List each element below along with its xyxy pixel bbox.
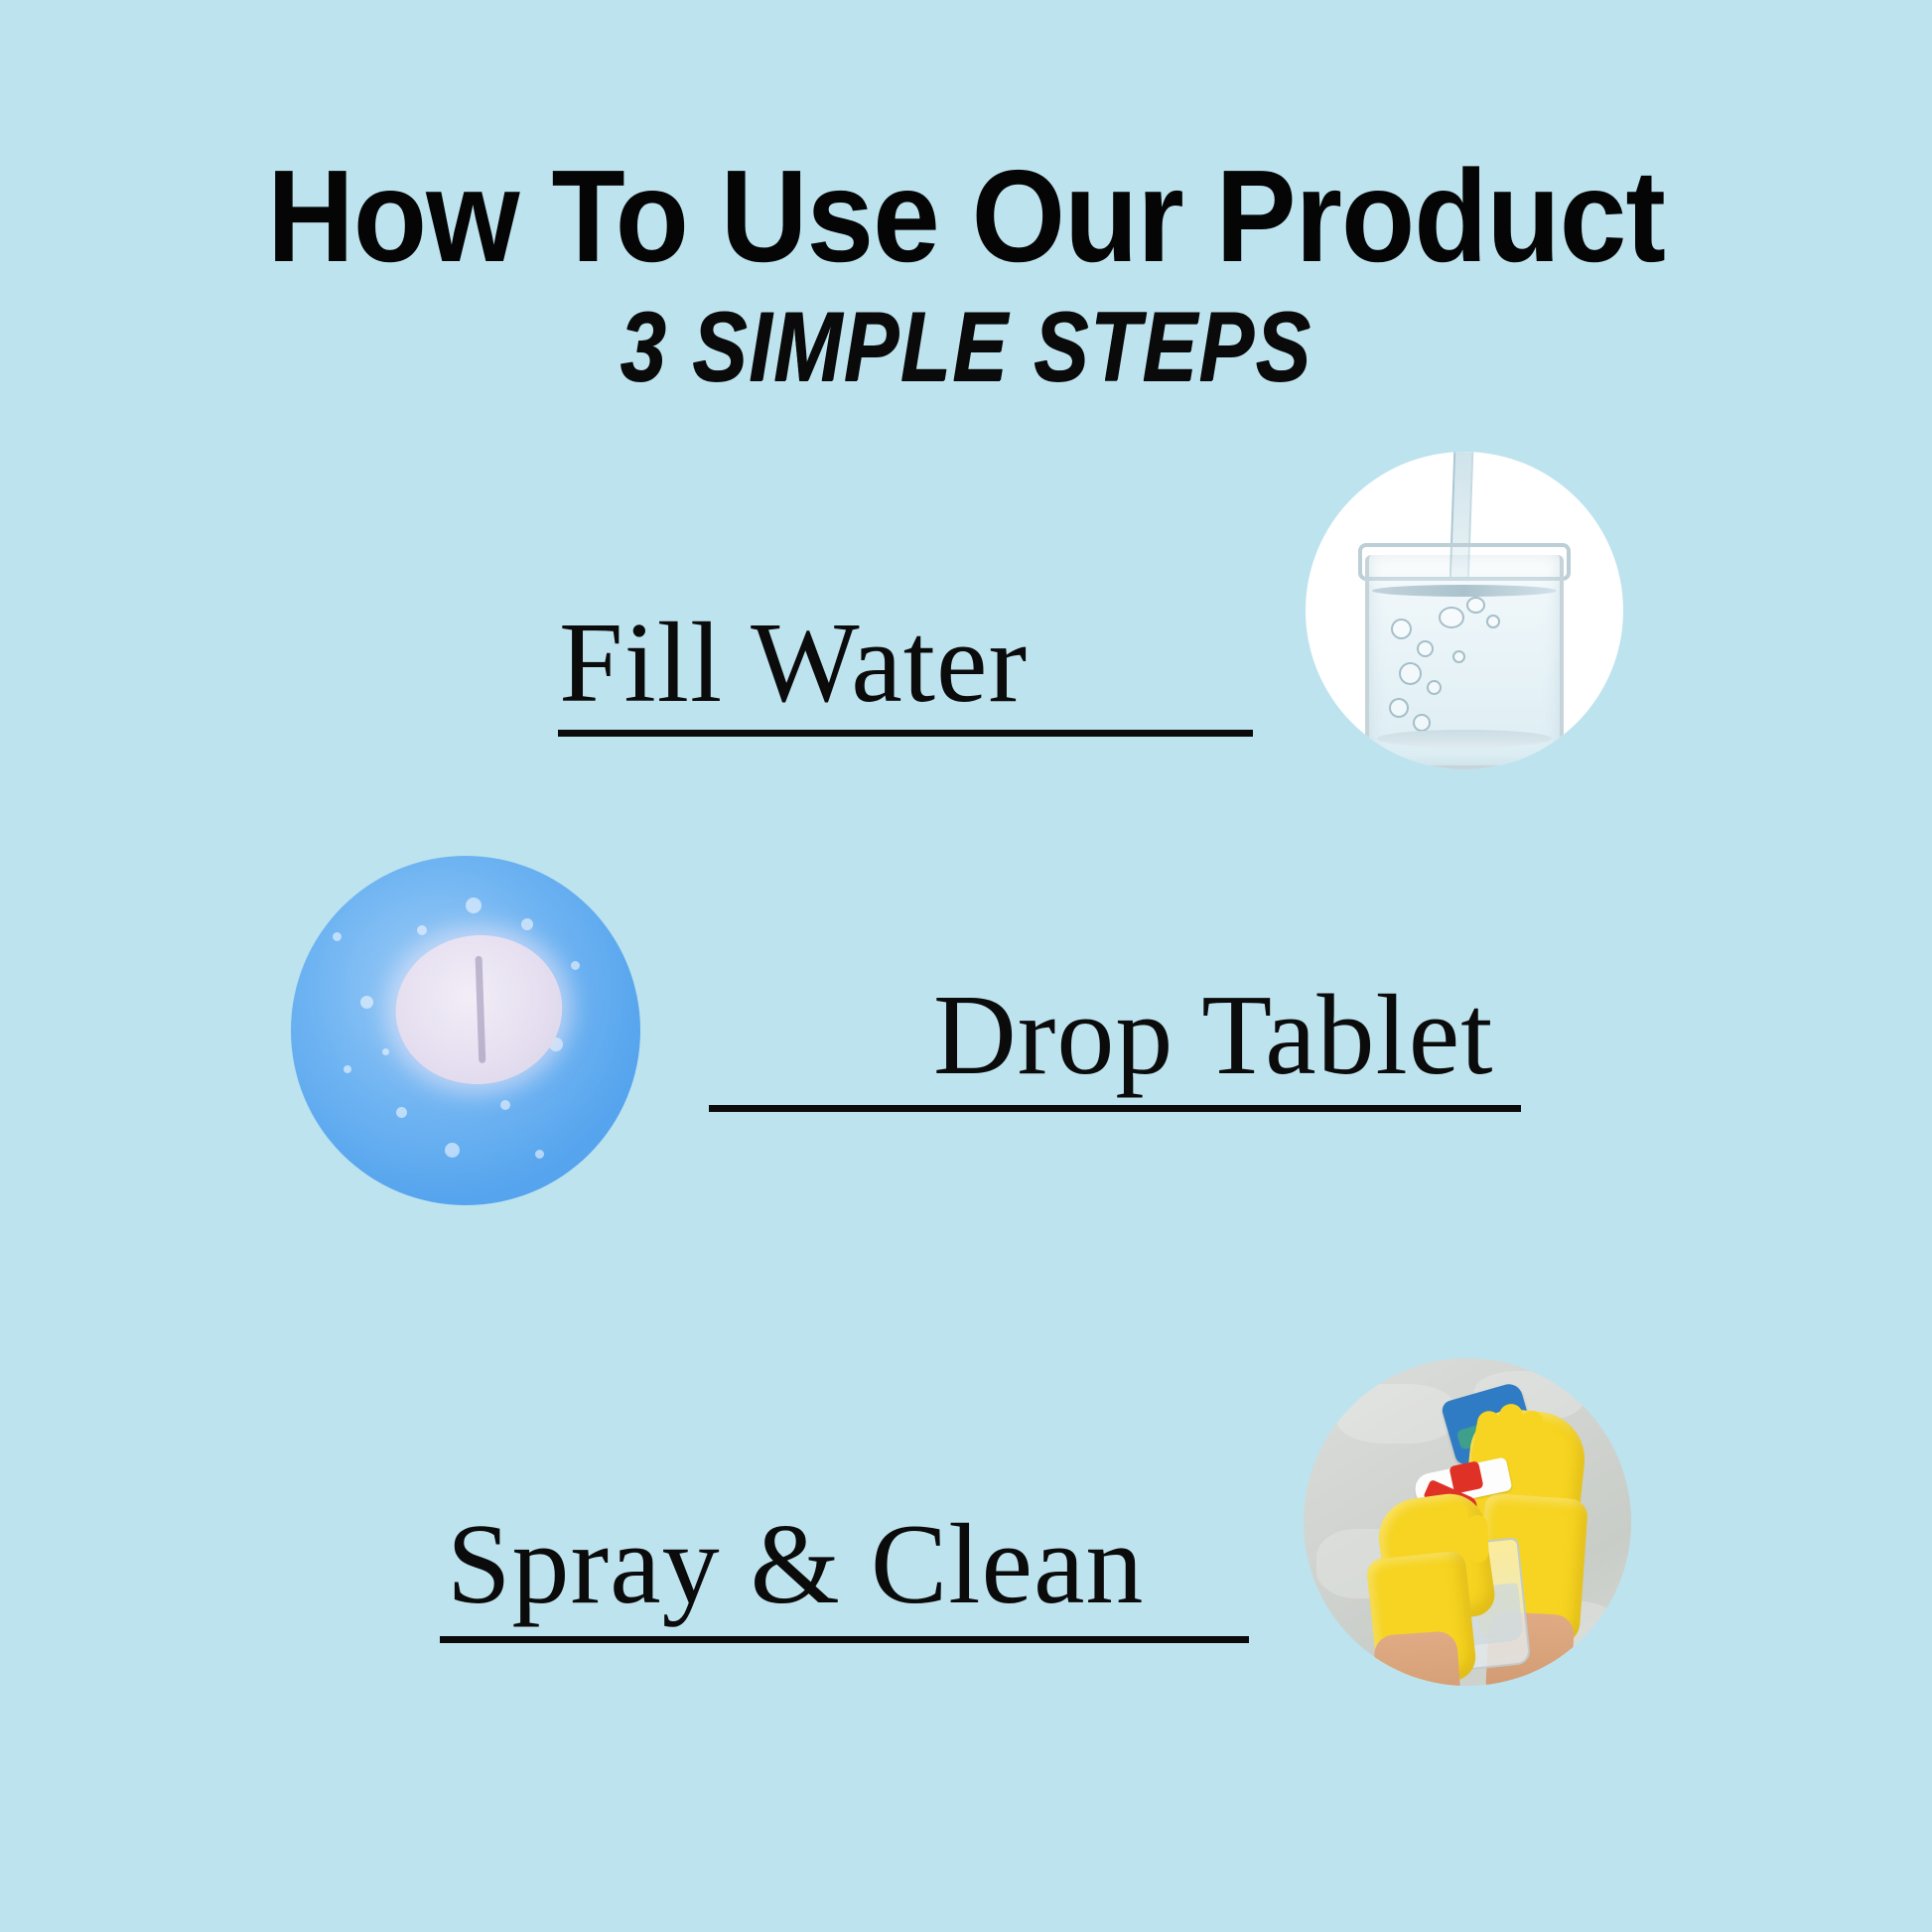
step-3-underline [440, 1636, 1249, 1643]
bubble [1413, 714, 1431, 732]
step-2-label: Drop Tablet [933, 978, 1494, 1093]
fizz-bubble [344, 1065, 351, 1073]
step-3-image-cleaning-hands [1304, 1358, 1631, 1686]
fizz-bubble [571, 961, 580, 970]
bubble [1389, 698, 1409, 718]
left-forearm [1373, 1630, 1462, 1686]
bubble [1452, 650, 1465, 663]
step-2-underline [709, 1105, 1521, 1112]
fizz-bubble [521, 918, 533, 930]
bubble [1439, 607, 1464, 628]
step-3-label: Spray & Clean [447, 1507, 1144, 1622]
fizz-bubble [445, 1143, 460, 1158]
step-2-image-tablet [291, 856, 640, 1205]
fizz-bubble [333, 932, 342, 941]
bubble [1486, 615, 1500, 628]
glove-finger [1519, 1410, 1544, 1468]
glove-finger [1466, 1515, 1489, 1564]
fizz-bubble [360, 996, 373, 1009]
bubble [1427, 680, 1442, 695]
step-1-underline [558, 730, 1253, 737]
fizz-bubble [466, 897, 482, 913]
wall-texture [1336, 1384, 1455, 1444]
fizz-bubble [382, 1048, 389, 1055]
fizz-bubble [535, 1150, 544, 1159]
page-subtitle: 3 SIMPLE STEPS [96, 298, 1835, 396]
bubble [1417, 640, 1434, 657]
jar-waterline [1372, 585, 1557, 597]
bubble [1466, 597, 1485, 614]
fizz-bubble [500, 1100, 510, 1110]
bubble [1391, 619, 1412, 639]
fizz-bubble [396, 1107, 407, 1118]
bubble [1399, 662, 1422, 685]
effervescent-tablet [388, 927, 570, 1093]
step-1-label: Fill Water [559, 606, 1028, 721]
page-title: How To Use Our Product [77, 151, 1855, 282]
jar-base [1377, 730, 1552, 748]
infographic-canvas: How To Use Our Product 3 SIMPLE STEPS Fi… [0, 0, 1932, 1932]
step-1-image-glass-jar [1306, 452, 1623, 769]
fizz-bubble [417, 925, 427, 935]
tablet-score-line [476, 956, 486, 1063]
